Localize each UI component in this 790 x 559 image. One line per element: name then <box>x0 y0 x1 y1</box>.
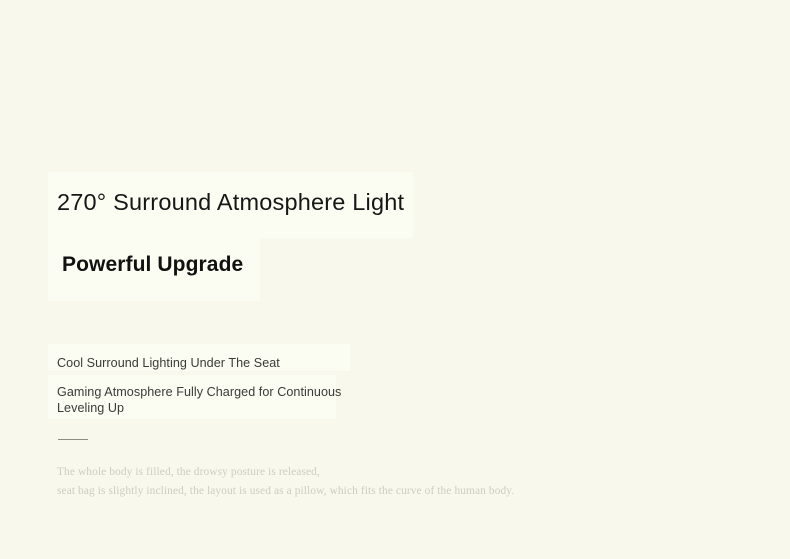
product-feature-page: 270° Surround Atmosphere Light Powerful … <box>0 0 790 559</box>
page-subtitle: Powerful Upgrade <box>62 252 243 278</box>
fineprint-line-one: The whole body is filled, the drowsy pos… <box>57 465 320 480</box>
page-title: 270° Surround Atmosphere Light <box>57 188 404 216</box>
fineprint-line-two: seat bag is slightly inclined, the layou… <box>57 484 514 499</box>
content-layer: 270° Surround Atmosphere Light Powerful … <box>0 0 790 559</box>
feature-item-atmosphere: Gaming Atmosphere Fully Charged for Cont… <box>57 384 387 416</box>
section-divider <box>58 439 88 440</box>
feature-item-lighting: Cool Surround Lighting Under The Seat <box>57 355 280 371</box>
